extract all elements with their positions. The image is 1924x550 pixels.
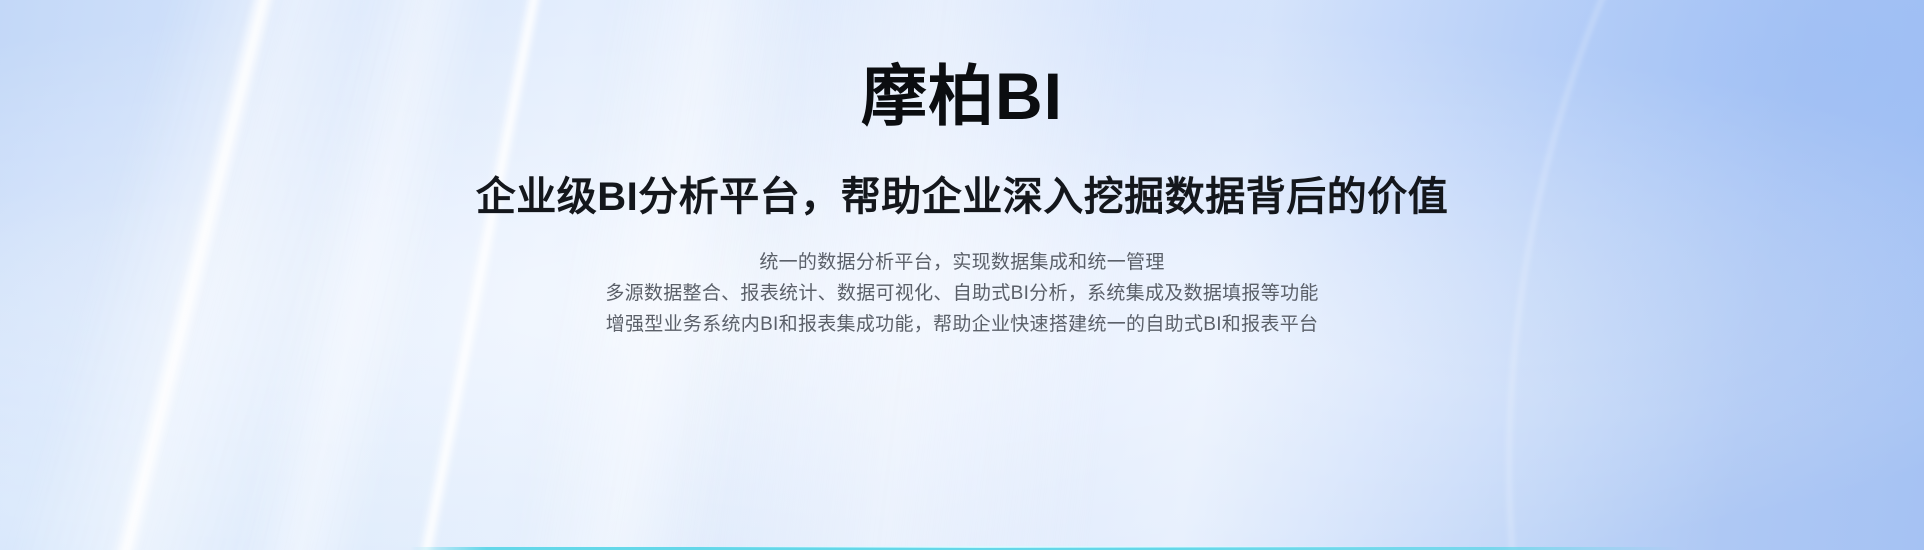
hero-description-list: 统一的数据分析平台，实现数据集成和统一管理 多源数据整合、报表统计、数据可视化、… (605, 219, 1318, 340)
hero-description-line: 增强型业务系统内BI和报表集成功能，帮助企业快速搭建统一的自助式BI和报表平台 (605, 309, 1318, 340)
bottom-accent-highlight (700, 546, 1404, 548)
hero-content: 摩柏BI 企业级BI分析平台，帮助企业深入挖掘数据背后的价值 统一的数据分析平台… (0, 0, 1924, 550)
hero-subtitle: 企业级BI分析平台，帮助企业深入挖掘数据背后的价值 (476, 131, 1449, 219)
page-title: 摩柏BI (861, 0, 1063, 131)
hero-description-line: 多源数据整合、报表统计、数据可视化、自助式BI分析，系统集成及数据填报等功能 (605, 278, 1318, 309)
hero-banner: 摩柏BI 企业级BI分析平台，帮助企业深入挖掘数据背后的价值 统一的数据分析平台… (0, 0, 1924, 550)
hero-description-line: 统一的数据分析平台，实现数据集成和统一管理 (605, 247, 1318, 278)
